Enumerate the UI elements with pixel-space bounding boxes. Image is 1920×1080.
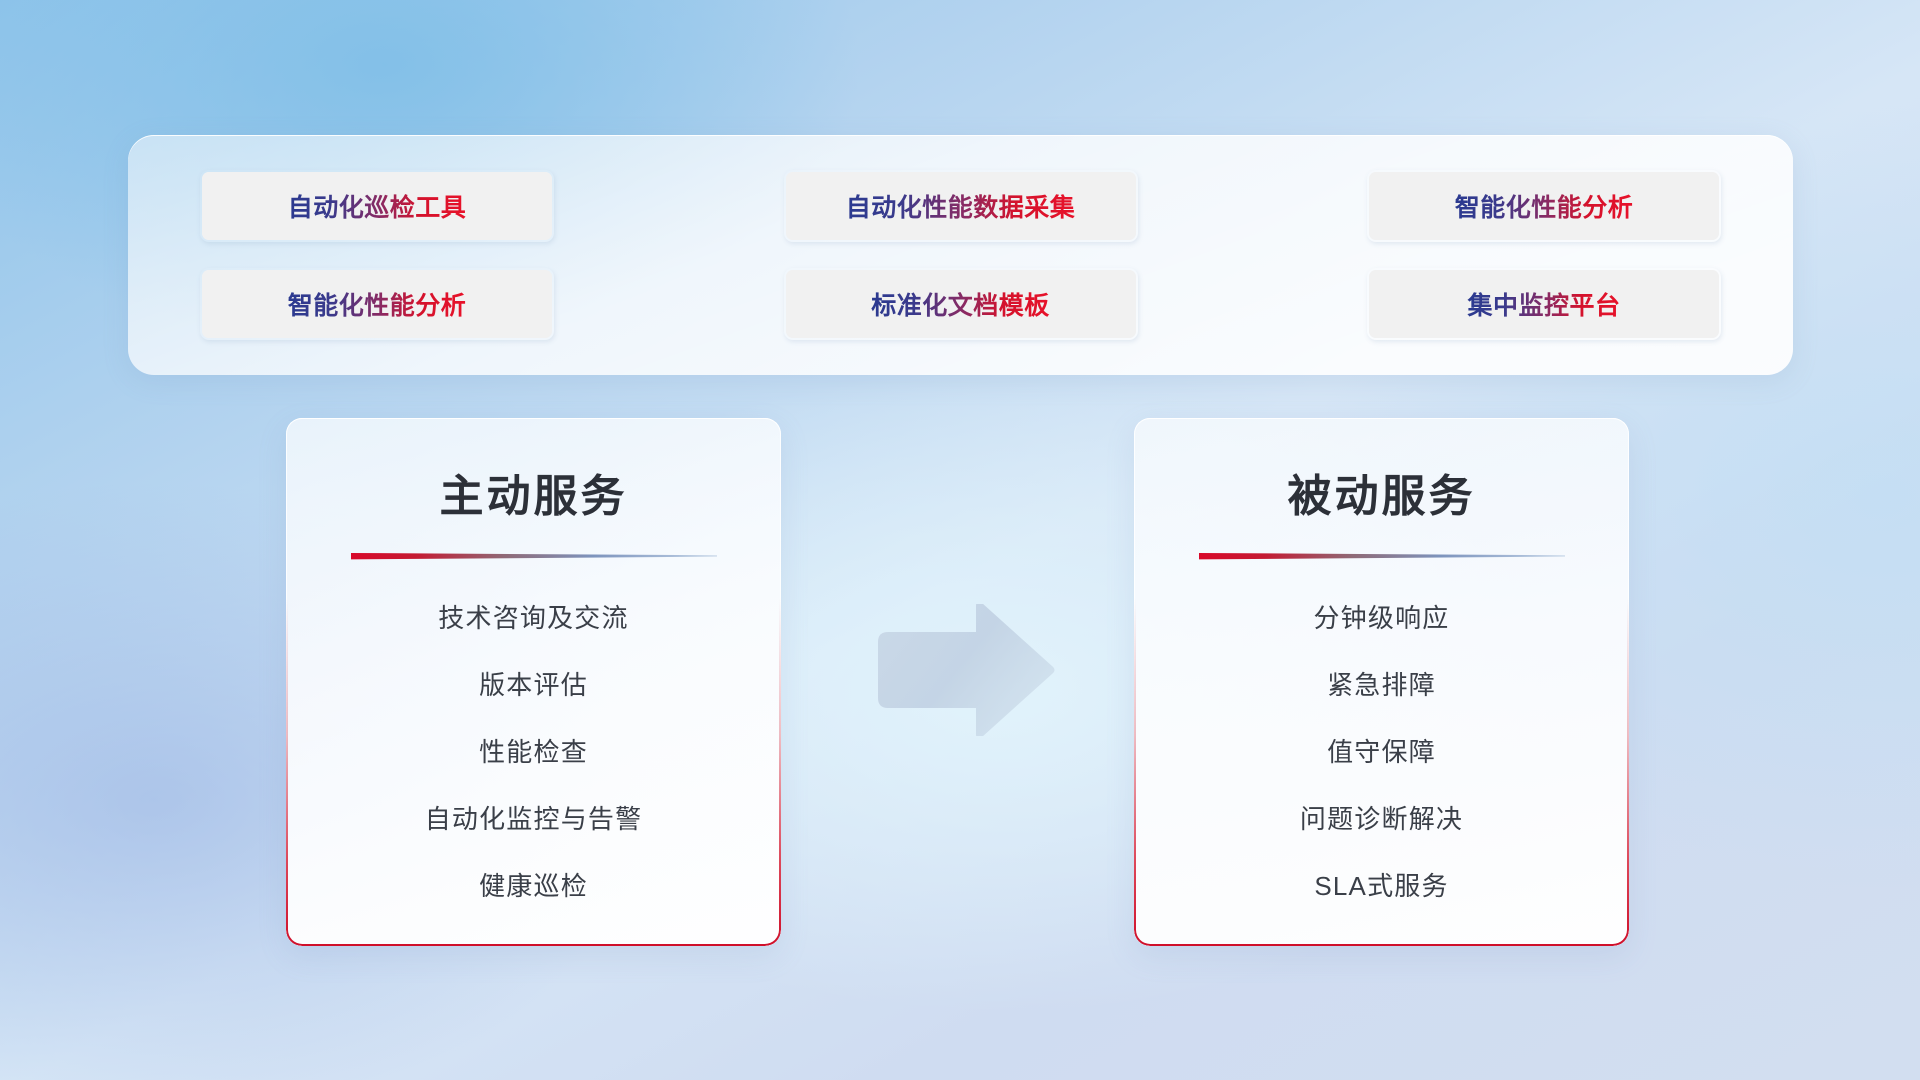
- pill-surface: 智能化性能分析: [1369, 172, 1719, 240]
- pill-label: 自动化巡检工具: [288, 188, 467, 224]
- capability-pill-intelligent-performance-analysis-b[interactable]: 智能化性能分析: [200, 268, 554, 340]
- pill-label: 智能化性能分析: [288, 286, 467, 322]
- capability-pill-intelligent-performance-analysis-a[interactable]: 智能化性能分析: [1367, 170, 1721, 242]
- list-item: 问题诊断解决: [1300, 799, 1463, 836]
- capability-panel: 自动化巡检工具 自动化性能数据采集 智能化性能分析 智能化性能分析: [128, 135, 1793, 375]
- service-card-reactive[interactable]: 被动服务 分钟级响应 紧急排障 值守保障: [1134, 418, 1629, 946]
- card-title: 被动服务: [1134, 460, 1629, 524]
- service-card-proactive[interactable]: 主动服务 技术咨询及交流 版本评估 性能检查: [286, 418, 781, 946]
- pill-label: 集中监控平台: [1467, 286, 1620, 322]
- right-arrow-icon: [868, 604, 1058, 736]
- card-divider: [351, 550, 717, 562]
- capability-pill-automated-inspection-tool[interactable]: 自动化巡检工具: [200, 170, 554, 242]
- pill-surface: 集中监控平台: [1369, 270, 1719, 338]
- list-item: 自动化监控与告警: [425, 799, 643, 836]
- list-item: 健康巡检: [479, 866, 588, 903]
- capability-row-1: 自动化巡检工具 自动化性能数据采集 智能化性能分析: [200, 170, 1721, 242]
- list-item: 技术咨询及交流: [438, 598, 628, 635]
- capability-pill-standardized-document-template[interactable]: 标准化文档模板: [784, 268, 1138, 340]
- capability-pill-centralized-monitoring-platform[interactable]: 集中监控平台: [1367, 268, 1721, 340]
- list-item: 性能检查: [479, 732, 588, 769]
- pill-surface: 标准化文档模板: [786, 270, 1136, 338]
- card-title: 主动服务: [286, 460, 781, 524]
- list-item: SLA式服务: [1314, 866, 1448, 903]
- list-item: 分钟级响应: [1313, 598, 1449, 635]
- capability-pill-automated-performance-data-collection[interactable]: 自动化性能数据采集: [784, 170, 1138, 242]
- card-item-list: 技术咨询及交流 版本评估 性能检查 自动化监控与告警 健康巡检: [286, 598, 781, 903]
- pill-surface: 自动化性能数据采集: [786, 172, 1136, 240]
- pill-surface: 自动化巡检工具: [202, 172, 552, 240]
- capability-row-2: 智能化性能分析 标准化文档模板 集中监控平台: [200, 268, 1721, 340]
- pill-label: 标准化文档模板: [871, 286, 1050, 322]
- list-item: 版本评估: [479, 665, 588, 702]
- pill-surface: 智能化性能分析: [202, 270, 552, 338]
- card-divider: [1199, 550, 1565, 562]
- diagram-canvas: 自动化巡检工具 自动化性能数据采集 智能化性能分析 智能化性能分析: [0, 0, 1920, 1080]
- pill-label: 智能化性能分析: [1455, 188, 1634, 224]
- list-item: 值守保障: [1327, 732, 1436, 769]
- list-item: 紧急排障: [1327, 665, 1436, 702]
- pill-label: 自动化性能数据采集: [846, 188, 1076, 224]
- card-item-list: 分钟级响应 紧急排障 值守保障 问题诊断解决 SLA式服务: [1134, 598, 1629, 903]
